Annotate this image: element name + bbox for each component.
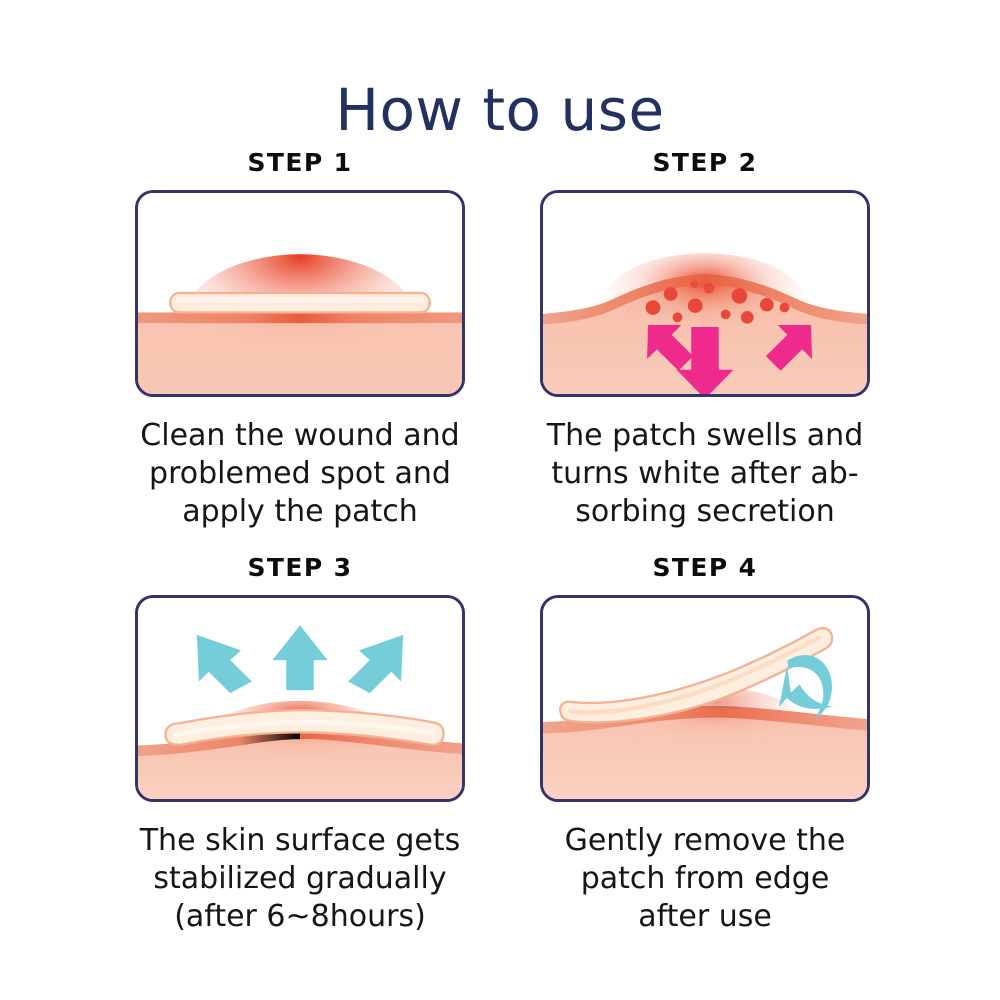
page-title: How to use — [0, 77, 1000, 144]
caption-line: turns white after ab- — [495, 455, 915, 493]
caption-line: The patch swells and — [495, 417, 915, 455]
caption-line: stabilized gradually — [90, 860, 510, 898]
steps-grid: STEP 1 — [0, 148, 1000, 968]
flat-patch-illustration — [138, 193, 462, 394]
step-caption-2: The patch swells and turns white after a… — [495, 417, 915, 531]
step-label-1: STEP 1 — [90, 148, 510, 177]
step-illustration-1 — [135, 190, 465, 397]
step-illustration-2 — [540, 190, 870, 397]
swollen-patch-illustration — [543, 193, 867, 394]
caption-line: after use — [495, 898, 915, 936]
step-caption-3: The skin surface gets stabilized gradual… — [90, 822, 510, 936]
stabilizing-skin-illustration — [138, 598, 462, 799]
step-caption-1: Clean the wound and problemed spot and a… — [90, 417, 510, 531]
step-illustration-3 — [135, 595, 465, 802]
step-label-4: STEP 4 — [495, 553, 915, 582]
step-label-3: STEP 3 — [90, 553, 510, 582]
peel-patch-illustration — [543, 598, 867, 799]
caption-line: Clean the wound and — [90, 417, 510, 455]
caption-line: The skin surface gets — [90, 822, 510, 860]
step-label-2: STEP 2 — [495, 148, 915, 177]
caption-line: apply the patch — [90, 493, 510, 531]
step-card-4: STEP 4 — [495, 553, 915, 936]
caption-line: sorbing secretion — [495, 493, 915, 531]
caption-line: (after 6~8hours) — [90, 898, 510, 936]
step-illustration-4 — [540, 595, 870, 802]
step-caption-4: Gently remove the patch from edge after … — [495, 822, 915, 936]
step-card-1: STEP 1 — [90, 148, 510, 531]
caption-line: patch from edge — [495, 860, 915, 898]
how-to-use-infographic: How to use STEP 1 — [0, 0, 1000, 1000]
caption-line: Gently remove the — [495, 822, 915, 860]
step-card-2: STEP 2 — [495, 148, 915, 531]
step-card-3: STEP 3 — [90, 553, 510, 936]
caption-line: problemed spot and — [90, 455, 510, 493]
